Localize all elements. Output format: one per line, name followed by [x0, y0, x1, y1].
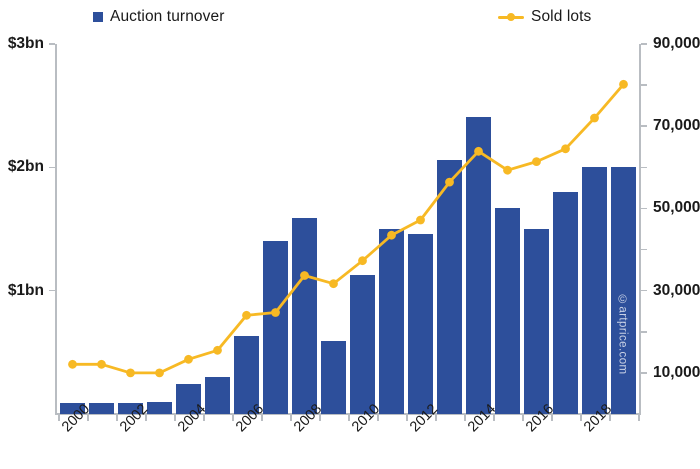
sold-lots-marker-2002[interactable]: [126, 369, 135, 378]
y-axis-right-tick: [641, 84, 647, 86]
x-axis-tick: [290, 414, 292, 421]
x-axis-tick: [638, 414, 640, 421]
y-axis-right-label: 30,000: [653, 282, 700, 300]
y-axis-right-tick: [641, 372, 647, 374]
y-axis-left-label: $2bn: [8, 158, 44, 176]
sold-lots-marker-2004[interactable]: [184, 355, 193, 364]
sold-lots-marker-2001[interactable]: [97, 360, 106, 369]
chart-legend: Auction turnover Sold lots: [0, 6, 700, 32]
y-axis-left-line: [55, 44, 57, 414]
sold-lots-marker-2015[interactable]: [503, 166, 512, 175]
y-axis-right-label: 10,000: [653, 364, 700, 382]
y-axis-left-label: $3bn: [8, 35, 44, 53]
sold-lots-marker-2008[interactable]: [300, 271, 309, 280]
y-axis-left-tick: [49, 167, 55, 169]
line-marker-swatch-icon: [498, 12, 524, 22]
sold-lots-marker-2009[interactable]: [329, 279, 338, 288]
y-axis-left-label: $1bn: [8, 282, 44, 300]
y-axis-right-label: 90,000: [653, 35, 700, 53]
y-axis-right-tick: [641, 167, 647, 169]
sold-lots-line: [73, 84, 624, 373]
legend-item-auction-turnover[interactable]: Auction turnover: [93, 8, 224, 26]
y-axis-left-tick: [49, 43, 55, 45]
x-axis-tick: [116, 414, 118, 421]
x-axis-tick: [232, 414, 234, 421]
x-axis-tick: [522, 414, 524, 421]
sold-lots-marker-2010[interactable]: [358, 256, 367, 265]
y-axis-right-tick: [641, 290, 647, 292]
sold-lots-marker-2013[interactable]: [445, 178, 454, 187]
sold-lots-marker-2014[interactable]: [474, 147, 483, 156]
legend-item-sold-lots[interactable]: Sold lots: [498, 8, 591, 26]
x-axis-tick: [580, 414, 582, 421]
y-axis-right-tick: [641, 43, 647, 45]
y-axis-right-tick: [641, 331, 647, 333]
chart-root: Auction turnover Sold lots $1bn$2bn$3bn …: [0, 0, 700, 469]
y-axis-right-label: 50,000: [653, 199, 700, 217]
legend-label-auction-turnover: Auction turnover: [110, 8, 224, 26]
sold-lots-marker-2019[interactable]: [619, 80, 628, 89]
y-axis-right-tick: [641, 125, 647, 127]
y-axis-right-tick: [641, 249, 647, 251]
x-axis-tick: [348, 414, 350, 421]
sold-lots-marker-2017[interactable]: [561, 144, 570, 153]
sold-lots-marker-2012[interactable]: [416, 216, 425, 225]
x-axis-tick: [406, 414, 408, 421]
y-axis-left-tick: [49, 290, 55, 292]
x-axis-tick: [58, 414, 60, 421]
sold-lots-marker-2011[interactable]: [387, 231, 396, 240]
sold-lots-marker-2016[interactable]: [532, 157, 541, 166]
plot-area: $1bn$2bn$3bn 10,00030,00050,00070,00090,…: [58, 44, 638, 414]
line-series-sold-lots: [58, 44, 638, 414]
legend-label-sold-lots: Sold lots: [531, 8, 591, 26]
sold-lots-marker-2018[interactable]: [590, 114, 599, 123]
sold-lots-marker-2005[interactable]: [213, 346, 222, 355]
sold-lots-marker-2007[interactable]: [271, 308, 280, 317]
x-axis-tick: [464, 414, 466, 421]
sold-lots-marker-2006[interactable]: [242, 311, 251, 320]
square-swatch-icon: [93, 12, 103, 22]
x-axis-tick: [174, 414, 176, 421]
y-axis-right-line: [639, 44, 641, 414]
sold-lots-marker-2000[interactable]: [68, 360, 77, 369]
y-axis-right-label: 70,000: [653, 117, 700, 135]
sold-lots-marker-2003[interactable]: [155, 369, 164, 378]
watermark-artprice: ©artprice.com: [617, 294, 629, 374]
y-axis-right-tick: [641, 208, 647, 210]
